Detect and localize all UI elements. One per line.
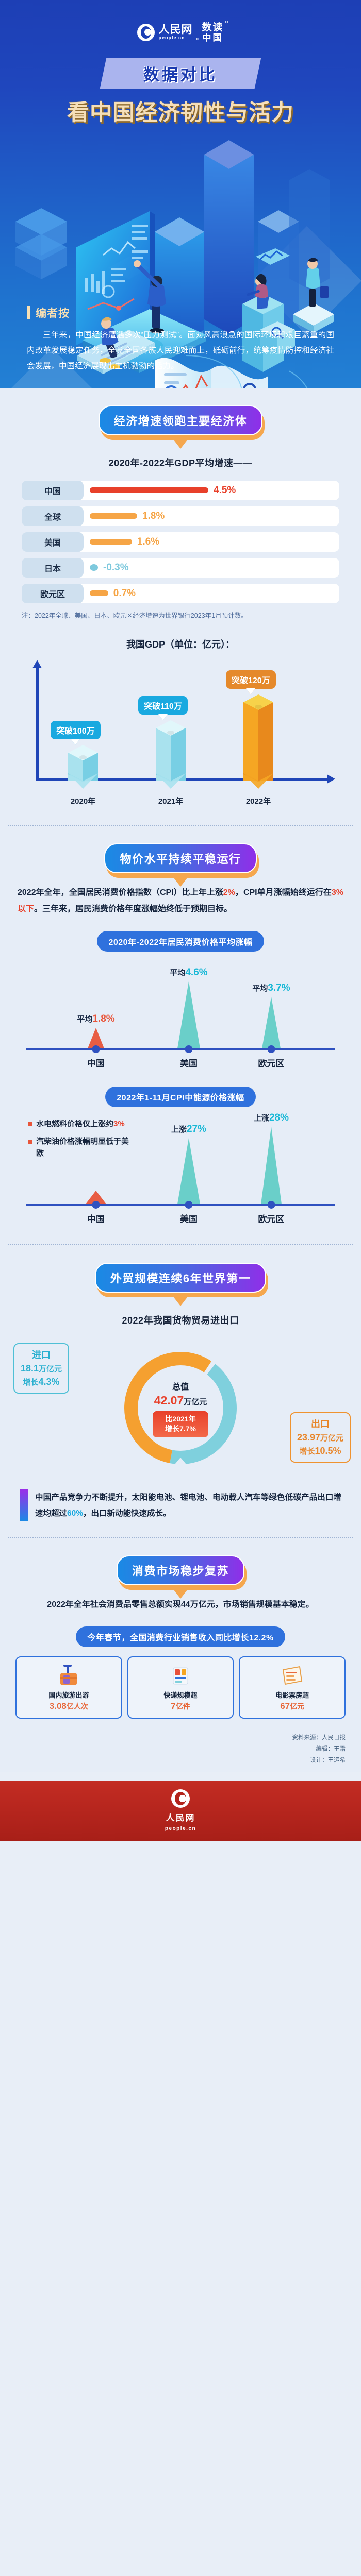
export-competitiveness-quote: 中国产品竞争力不断提升，太阳能电池、锂电池、电动载人汽车等绿色低碳产品出口增速均… [20, 1489, 341, 1521]
badge-line2: 增长7.7% [153, 1424, 208, 1434]
gdp-row-value: 1.8% [142, 511, 165, 522]
cpi-bullet-item: 水电燃料价格仅上涨约3% [28, 1118, 136, 1130]
cpi-energy-tag: 2022年1-11月CPI中能源价格涨幅 [105, 1087, 255, 1107]
kicker-band: 数据对比 [100, 58, 261, 89]
spike-dot [268, 1201, 275, 1209]
gdp-row-bar [90, 590, 108, 596]
gdp-row-track: 1.8% [76, 506, 339, 526]
spike-dot [92, 1045, 100, 1053]
card-title: 快递规模超 [130, 1690, 231, 1700]
import-callout: 进口 18.1万亿元 增长4.3% [13, 1343, 69, 1394]
section3-pill-label: 外贸规模连续6年世界第一 [95, 1263, 266, 1293]
section1-header: 经济增速领跑主要经济体 [0, 388, 361, 435]
column-highlight [255, 705, 262, 709]
consumption-card: 国内旅游出游3.08亿人次 [15, 1656, 122, 1719]
gdp-row: 美国1.6% [22, 532, 339, 552]
gdp-column-year: 2021年 [150, 795, 191, 806]
gdp-row-value: -0.3% [103, 562, 129, 573]
note-accent-bar [27, 306, 30, 319]
spring-festival-tag: 今年春节，全国消费行业销售收入同比增长12.2% [76, 1626, 285, 1647]
gdp-row-track: 0.7% [76, 584, 339, 603]
section3-header: 外贸规模连续6年世界第一 [0, 1245, 361, 1293]
gdp-row: 全球1.8% [22, 506, 339, 526]
pill-tail-icon [172, 1587, 189, 1599]
cpi-spike-label: 平均4.6% [158, 967, 220, 978]
shudu-logo-line2: 中国 [202, 33, 223, 42]
trade-donut-chart: 总值 42.07万亿元 比2021年 增长7.7% 进口 18.1万亿元 增长4… [0, 1334, 361, 1483]
credit-source: 资料来源：人民日报 [15, 1732, 346, 1743]
cpi-spike-label: 上涨27% [158, 1124, 220, 1135]
cpi-spike [259, 997, 284, 1048]
cpi-spike [176, 981, 201, 1048]
section1-pill-label: 经济增速领跑主要经济体 [99, 405, 263, 435]
gdp-chart-caption: 我国GDP（单位：亿元）： [0, 637, 361, 651]
gdp-column [156, 728, 186, 789]
bullet-square-icon [28, 1122, 32, 1126]
export-growth-pre: 增长 [299, 1447, 315, 1456]
section1-subhead: 2020年-2022年GDP平均增速—— [0, 456, 361, 469]
gdp-column-year: 2022年 [238, 795, 279, 806]
kicker-title: 数据对比 [143, 62, 218, 85]
chart-y-axis [36, 667, 39, 781]
spike-country-label: 美国 [180, 1056, 198, 1069]
card-value: 3.08亿人次 [19, 1701, 119, 1711]
gdp-column-label: 突破120万 [226, 670, 276, 689]
gdp-growth-chart: 中国4.5%全球1.8%美国1.6%日本-0.3%欧元区0.7% [22, 481, 339, 603]
shudu-dot-icon [225, 21, 228, 23]
column-bottom [156, 773, 186, 789]
spike-triangle [262, 997, 281, 1048]
donut-center-text: 总值 42.07万亿元 比2021年 增长7.7% [142, 1379, 219, 1437]
spike-country-label: 中国 [87, 1056, 105, 1069]
gdp-row-bar [90, 513, 137, 519]
credit-editor: 编辑：王霜 [15, 1743, 346, 1755]
editor-note-label: 编者按 [36, 305, 70, 320]
hero-illustration [0, 135, 361, 305]
donut-center-label: 总值 [142, 1379, 219, 1392]
donut-center-unit: 万亿元 [184, 1397, 207, 1406]
cpi-spike [259, 1127, 284, 1204]
spike-dot [268, 1045, 275, 1053]
movie-ticket-icon [242, 1663, 342, 1686]
gdp-row-track: 4.5% [76, 481, 339, 500]
gdp-row-label: 欧元区 [22, 584, 84, 603]
spike-country-label: 欧元区 [258, 1056, 285, 1069]
cpi-average-tag: 2020年-2022年居民消费价格平均涨幅 [97, 931, 264, 952]
card-value: 7亿件 [130, 1701, 231, 1711]
column-highlight [79, 755, 87, 759]
footer: 人民网 people.cn [0, 1781, 361, 1841]
spike-country-label: 欧元区 [258, 1212, 285, 1225]
quote-segment: ，出口新动能快速成长。 [83, 1509, 171, 1518]
cpi-average-spike-chart: 平均1.8%中国平均4.6%美国平均3.7%欧元区 [19, 955, 342, 1073]
shudu-china-logo: 数读 中国 [202, 23, 223, 42]
quote-accent-bar [20, 1489, 28, 1521]
spike-triangle [177, 981, 200, 1048]
pill-tail-icon [172, 437, 189, 449]
cpi-spike-label: 上涨28% [240, 1112, 302, 1124]
import-value: 18.1 [21, 1363, 39, 1374]
quote-highlight: 60% [67, 1509, 83, 1518]
cpi-text: 。三年来，居民消费价格年度涨幅始终低于预期目标。 [34, 905, 232, 913]
consumption-card: 快递规模超7亿件 [127, 1656, 234, 1719]
spike-dot [185, 1201, 193, 1209]
column-bottom [243, 773, 273, 789]
spike-dot [92, 1201, 100, 1209]
export-unit: 万亿元 [320, 1434, 343, 1443]
consumption-card: 电影票房超67亿元 [239, 1656, 346, 1719]
credits: 资料来源：人民日报 编辑：王霜 设计：王运希 [15, 1732, 346, 1767]
brand-logos: 人民网 people cn 数读 中国 [0, 14, 361, 50]
gdp-row-value: 4.5% [214, 485, 236, 496]
page-title: 看中国经济韧性与活力 [0, 95, 361, 127]
footer-logo-icon [171, 1789, 190, 1808]
badge-line1: 比2021年 [153, 1414, 208, 1424]
cpi-bullet-item: 汽柴油价格涨幅明显低于美欧 [28, 1136, 136, 1159]
infographic-page: 人民网 people cn 数读 中国 数据对比 看中国经济韧性与活力 编者按 … [0, 0, 361, 1841]
gdp-column-label: 突破100万 [51, 721, 101, 739]
people-logo-en: people cn [158, 36, 192, 40]
section4-pill-label: 消费市场稳步复苏 [117, 1555, 244, 1585]
people-logo-cn: 人民网 [158, 24, 192, 36]
gdp-column-chart: 突破100万2020年突破110万2021年突破120万2022年 [21, 660, 340, 809]
editor-note: 编者按 三年来，中国经济遭遇多次“压力测试”。面对风高浪急的国际环境和艰巨繁重的… [0, 305, 361, 388]
gdp-row-label: 日本 [22, 558, 84, 578]
suitcase-icon [19, 1663, 119, 1686]
import-title: 进口 [21, 1348, 62, 1362]
column-bottom [68, 773, 98, 789]
import-growth: 4.3% [39, 1377, 60, 1387]
gdp-row-bar [90, 564, 98, 571]
quote-text: 中国产品竞争力不断提升，太阳能电池、锂电池、电动载人汽车等绿色低碳产品出口增速均… [35, 1489, 341, 1521]
card-title: 电影票房超 [242, 1690, 342, 1700]
consumption-cards: 国内旅游出游3.08亿人次快递规模超7亿件电影票房超67亿元 [15, 1656, 346, 1719]
section1-note: 注：2022年全球、美国、日本、欧元区经济增速为世界银行2023年1月预计数。 [22, 611, 339, 622]
gdp-column [68, 753, 98, 789]
gdp-row-label: 中国 [22, 481, 84, 500]
cpi-spike-label: 平均3.7% [240, 982, 302, 994]
spike-country-label: 美国 [180, 1212, 198, 1225]
spike-triangle [177, 1138, 200, 1204]
bullet-highlight: 3% [113, 1120, 125, 1128]
export-title: 出口 [297, 1417, 343, 1431]
credit-design: 设计：王运希 [15, 1755, 346, 1766]
cpi-paragraph: 2022年全年，全国居民消费价格指数（CPI）比上年上涨2%，CPI单月涨幅始终… [18, 885, 343, 918]
spike-country-label: 中国 [87, 1212, 105, 1225]
column-right-face [171, 728, 186, 781]
cpi-bullet-list: 水电燃料价格仅上涨约3%汽柴油价格涨幅明显低于美欧 [28, 1118, 136, 1166]
section2-header: 物价水平持续平稳运行 [0, 826, 361, 873]
shudu-logo-line1: 数读 [202, 23, 223, 32]
gdp-row-track: -0.3% [76, 558, 339, 578]
shudu-dot-icon [196, 38, 199, 40]
donut-center-value: 42.07 [154, 1393, 184, 1406]
column-left-face [156, 728, 171, 781]
export-value: 23.97 [297, 1432, 320, 1443]
hero-section: 人民网 people cn 数读 中国 数据对比 看中国经济韧性与活力 编者按 … [0, 0, 361, 388]
gdp-row-value: 0.7% [113, 588, 136, 599]
parcel-icon [130, 1663, 231, 1686]
cpi-text: ，CPI单月涨幅始终运行在 [235, 888, 332, 897]
people-logo-icon [137, 24, 155, 41]
gdp-row-label: 全球 [22, 506, 84, 526]
card-value: 67亿元 [242, 1701, 342, 1711]
donut-growth-badge: 比2021年 增长7.7% [153, 1411, 208, 1437]
pill-tail-icon [172, 1295, 189, 1306]
gdp-row-value: 1.6% [137, 536, 159, 548]
gdp-row-bar [90, 539, 132, 545]
bullet-text: 汽柴油价格涨幅明显低于美欧 [36, 1136, 136, 1159]
column-left-face [243, 702, 258, 781]
gdp-row-bar [90, 487, 208, 493]
pill-tail-icon [172, 875, 189, 887]
import-unit: 万亿元 [39, 1365, 62, 1374]
spike-dot [185, 1045, 193, 1053]
export-callout: 出口 23.97万亿元 增长10.5% [290, 1412, 351, 1463]
footer-brand-en: people.cn [165, 1826, 196, 1832]
editor-note-text: 三年来，中国经济遭遇多次“压力测试”。面对风高浪急的国际环境和艰巨繁重的国内改革… [27, 328, 334, 375]
gdp-column-label: 突破110万 [138, 696, 188, 715]
people-cn-logo: 人民网 people cn [137, 24, 192, 41]
gdp-row-label: 美国 [22, 532, 84, 552]
gdp-row: 日本-0.3% [22, 558, 339, 578]
content-body: 经济增速领跑主要经济体 2020年-2022年GDP平均增速—— 中国4.5%全… [0, 388, 361, 1772]
cpi-spike [176, 1138, 201, 1204]
cpi-energy-spike-chart: 中国上涨27%美国上涨28%欧元区水电燃料价格仅上涨约3%汽柴油价格涨幅明显低于… [19, 1110, 342, 1229]
gdp-row-track: 1.6% [76, 532, 339, 552]
section2-pill-label: 物价水平持续平稳运行 [104, 843, 256, 873]
column-highlight [167, 731, 174, 735]
gdp-row: 欧元区0.7% [22, 584, 339, 603]
bullet-square-icon [28, 1140, 32, 1144]
column-right-face [258, 702, 273, 781]
consumption-paragraph: 2022年全年社会消费品零售总额实现44万亿元，市场销售规模基本稳定。 [18, 1597, 343, 1613]
import-growth-pre: 增长 [23, 1378, 39, 1387]
card-title: 国内旅游出游 [19, 1690, 119, 1700]
gdp-column [243, 702, 273, 789]
export-growth: 10.5% [315, 1446, 341, 1456]
cpi-spike-label: 平均1.8% [65, 1013, 127, 1025]
gdp-row: 中国4.5% [22, 481, 339, 500]
section3-subhead: 2022年我国货物贸易进出口 [0, 1313, 361, 1327]
bullet-text: 水电燃料价格仅上涨约3% [36, 1118, 125, 1130]
cpi-highlight: 2% [223, 888, 235, 897]
gdp-column-year: 2020年 [62, 795, 104, 806]
footer-brand-cn: 人民网 [166, 1810, 195, 1823]
spike-triangle [261, 1127, 282, 1204]
cpi-text: 2022年全年，全国居民消费价格指数（CPI）比上年上涨 [18, 888, 223, 897]
section4-header: 消费市场稳步复苏 [0, 1538, 361, 1585]
